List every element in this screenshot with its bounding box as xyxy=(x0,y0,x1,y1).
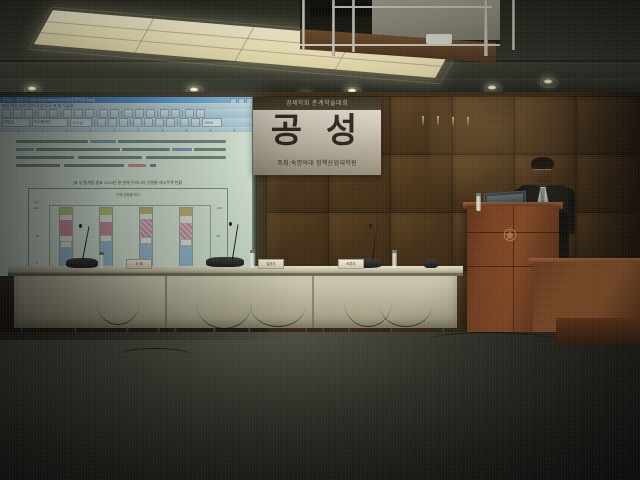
carpet-texture xyxy=(0,332,640,480)
wall-panel xyxy=(390,212,454,272)
bottle-cap xyxy=(476,193,481,196)
microphone-base-4[interactable] xyxy=(424,259,438,268)
downlight-1 xyxy=(27,86,37,91)
nameplate-3: 토론자 xyxy=(338,259,364,269)
wall-sconce xyxy=(467,117,469,126)
microphone-head-3 xyxy=(369,224,372,228)
wall-sconce xyxy=(452,117,454,126)
floor-cable-1 xyxy=(120,348,190,361)
mount-post-mid xyxy=(332,0,335,56)
left-shadow-overlay xyxy=(0,92,300,340)
mount-rail-lower xyxy=(300,44,500,46)
conference-hall-photo: 문서1 - 한글 [C:\My Documents\보고서\정책자료.hwp] … xyxy=(0,0,640,480)
wall-sconce xyxy=(437,116,439,125)
mount-post-left xyxy=(302,0,305,50)
water-bottle-3[interactable] xyxy=(392,253,397,268)
glasses-icon xyxy=(534,169,551,173)
downlight-5 xyxy=(543,79,553,84)
cable-5 xyxy=(380,284,432,327)
mount-rail-upper xyxy=(332,6,492,8)
university-crest-icon xyxy=(503,228,517,242)
floor-cable-2 xyxy=(430,332,550,347)
projector-body xyxy=(426,34,452,44)
wall-sconce xyxy=(422,116,424,125)
bottle-cap xyxy=(392,250,397,253)
stage-platform-edge xyxy=(556,318,640,344)
mount-post-right xyxy=(484,0,488,56)
mount-post-far-right xyxy=(512,0,515,50)
nameplate-3-text: 토론자 xyxy=(339,260,363,268)
downlight-4 xyxy=(487,85,497,90)
water-bottle-podium[interactable] xyxy=(476,196,481,211)
